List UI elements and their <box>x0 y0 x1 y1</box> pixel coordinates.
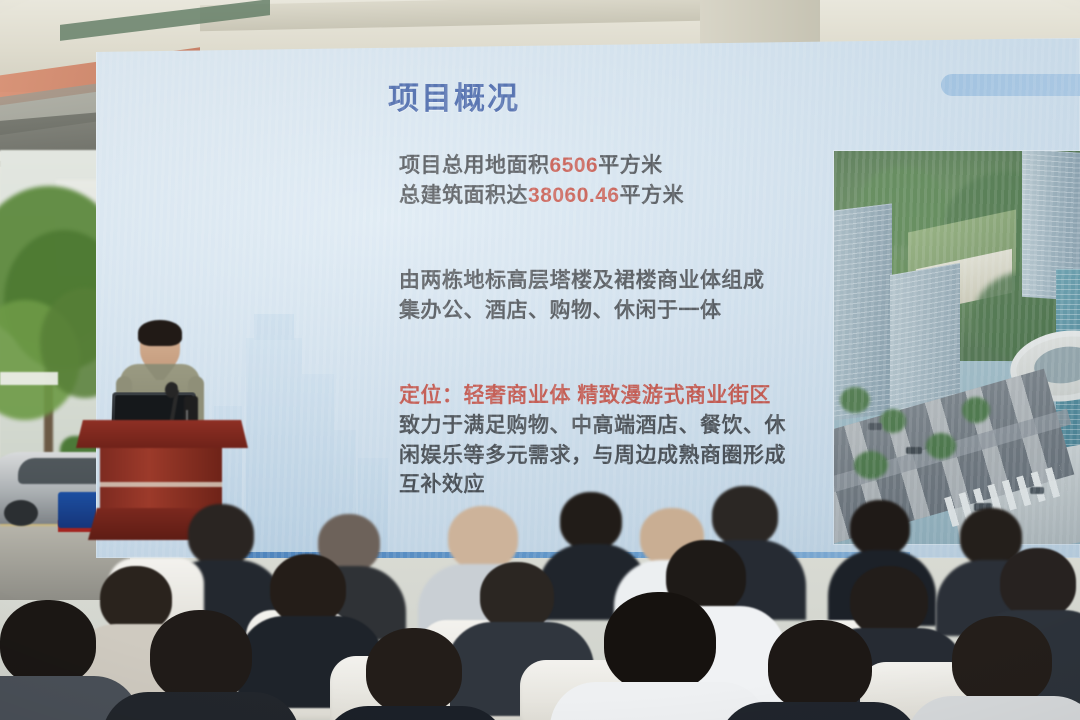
render-tree <box>926 433 956 459</box>
presenter-hair <box>138 320 182 346</box>
render-vehicle <box>868 423 882 430</box>
render-tower <box>834 203 892 420</box>
positioning-line-1: 致力于满足购物、中高端酒店、餐饮、休 <box>399 411 786 441</box>
screenshot-root: P 项目概况 项目总用地面积6506平方米 总建筑面积达38060.46平方米 <box>0 0 1080 720</box>
area-line1-suffix: 平方米 <box>598 154 663 177</box>
composition-line-1: 由两栋地标高层塔楼及裙楼商业体组成 <box>399 266 765 296</box>
audience <box>0 470 1080 720</box>
composition-line-2: 集办公、酒店、购物、休闲于一体 <box>399 296 765 326</box>
area-line2-suffix: 平方米 <box>620 184 685 207</box>
slide-block-area: 项目总用地面积6506平方米 总建筑面积达38060.46平方米 <box>399 151 684 211</box>
area-line1-number: 6506 <box>550 154 599 177</box>
microphone-head <box>165 382 178 398</box>
street-sign <box>0 372 58 385</box>
deco-bar-1 <box>941 74 1080 96</box>
area-line-1: 项目总用地面积6506平方米 <box>399 151 684 181</box>
laptop-screen <box>115 395 194 421</box>
positioning-line-2: 闲娱乐等多元需求，与周边成熟商圈形成 <box>399 441 786 471</box>
slide-block-composition: 由两栋地标高层塔楼及裙楼商业体组成 集办公、酒店、购物、休闲于一体 <box>399 266 765 326</box>
render-tree <box>840 387 870 413</box>
render-tree <box>962 397 990 423</box>
area-line-2: 总建筑面积达38060.46平方米 <box>399 181 684 211</box>
positioning-heading: 定位：轻奢商业体 精致漫游式商业街区 <box>399 381 786 411</box>
podium-top <box>76 420 248 448</box>
area-line2-prefix: 总建筑面积达 <box>399 184 528 207</box>
area-line2-number: 38060.46 <box>528 184 620 207</box>
render-tree <box>880 409 906 433</box>
slide-title: 项目概况 <box>388 82 520 116</box>
render-vehicle <box>906 447 922 454</box>
area-line1-prefix: 项目总用地面积 <box>399 154 550 177</box>
